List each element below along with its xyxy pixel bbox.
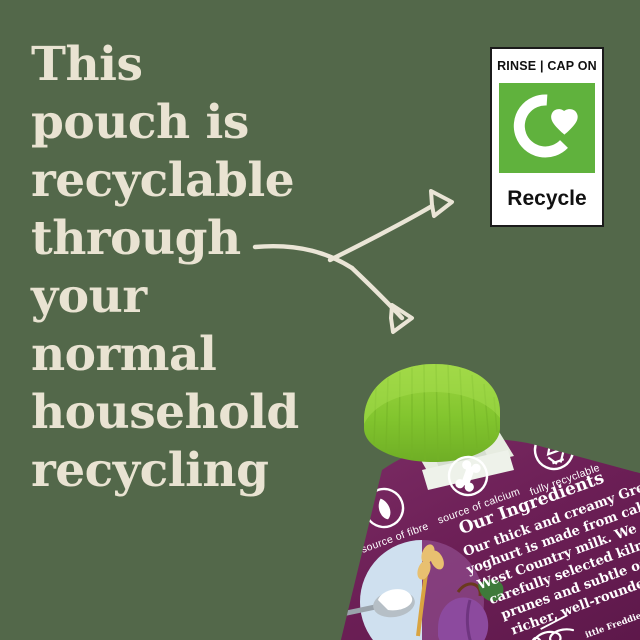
product-pouch: source of fibre source of calcium (318, 352, 640, 640)
pouch-cap (364, 364, 500, 462)
recycle-loop-heart-icon (499, 83, 595, 173)
oprl-bottom-text: Recycle (492, 173, 602, 225)
oprl-top-text: RINSE | CAP ON (492, 49, 602, 83)
page-title: This pouch is recyclable through your no… (31, 36, 331, 500)
oprl-recycle-label: RINSE | CAP ON Recycle (490, 47, 604, 227)
poster-canvas: This pouch is recyclable through your no… (0, 0, 640, 640)
